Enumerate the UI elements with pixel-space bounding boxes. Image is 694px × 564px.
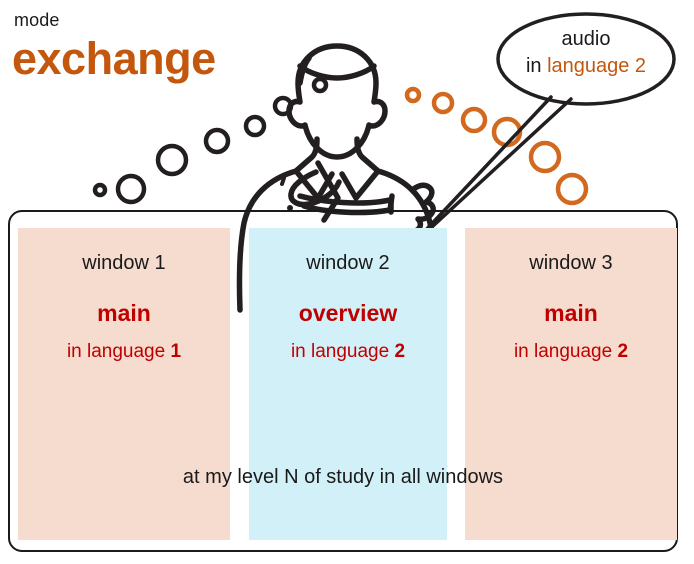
mode-label: mode xyxy=(14,11,59,29)
window-2-language: in language 2 xyxy=(249,342,447,363)
window-3-kind: main xyxy=(465,301,677,326)
window-1-language-prefix: in language xyxy=(67,341,171,362)
bubble-orange-6 xyxy=(558,175,586,203)
bubble-orange-2 xyxy=(434,94,452,112)
window-panel-3-content: window 3 main in language 2 xyxy=(465,228,677,363)
bubble-black-7 xyxy=(95,185,105,195)
mode-title: exchange xyxy=(12,36,216,81)
bubble-black-1 xyxy=(118,176,144,202)
window-3-language-number: 2 xyxy=(617,341,628,362)
window-2-language-prefix: in language xyxy=(291,341,395,362)
window-panel-2[interactable]: window 2 overview in language 2 xyxy=(249,228,447,540)
speech-bubble-line-2: in language 2 xyxy=(500,53,672,80)
orange-bubbles-group xyxy=(407,89,586,203)
diagram-canvas: mode exchange xyxy=(0,0,694,564)
window-panel-3[interactable]: window 3 main in language 2 xyxy=(465,228,677,540)
window-1-kind: main xyxy=(18,301,230,326)
bubble-black-6 xyxy=(314,79,326,91)
bubble-orange-1 xyxy=(407,89,419,101)
speech-bubble-line-2-accent: language 2 xyxy=(547,55,646,77)
window-2-language-number: 2 xyxy=(394,341,405,362)
bubble-black-5 xyxy=(275,98,291,114)
frame-caption: at my level N of study in all windows xyxy=(8,466,678,488)
window-3-language-prefix: in language xyxy=(514,341,618,362)
window-1-language: in language 1 xyxy=(18,342,230,363)
bubble-orange-4 xyxy=(494,119,520,145)
bubble-orange-3 xyxy=(463,109,485,131)
speech-bubble-text: audio in language 2 xyxy=(500,26,672,80)
window-panel-2-content: window 2 overview in language 2 xyxy=(249,228,447,363)
bubble-black-4 xyxy=(246,117,264,135)
speech-bubble-line-2-prefix: in xyxy=(526,55,547,77)
bubble-black-3 xyxy=(206,130,228,152)
window-panel-1[interactable]: window 1 main in language 1 xyxy=(18,228,230,540)
bubble-orange-5 xyxy=(531,143,559,171)
window-2-kind: overview xyxy=(249,301,447,326)
window-panel-1-content: window 1 main in language 1 xyxy=(18,228,230,363)
bubble-black-2 xyxy=(158,146,186,174)
black-bubbles-group xyxy=(95,79,326,202)
window-1-name: window 1 xyxy=(18,252,230,274)
speech-bubble-line-1: audio xyxy=(500,26,672,53)
window-3-language: in language 2 xyxy=(465,342,677,363)
window-2-name: window 2 xyxy=(249,252,447,274)
window-1-language-number: 1 xyxy=(170,341,181,362)
window-3-name: window 3 xyxy=(465,252,677,274)
